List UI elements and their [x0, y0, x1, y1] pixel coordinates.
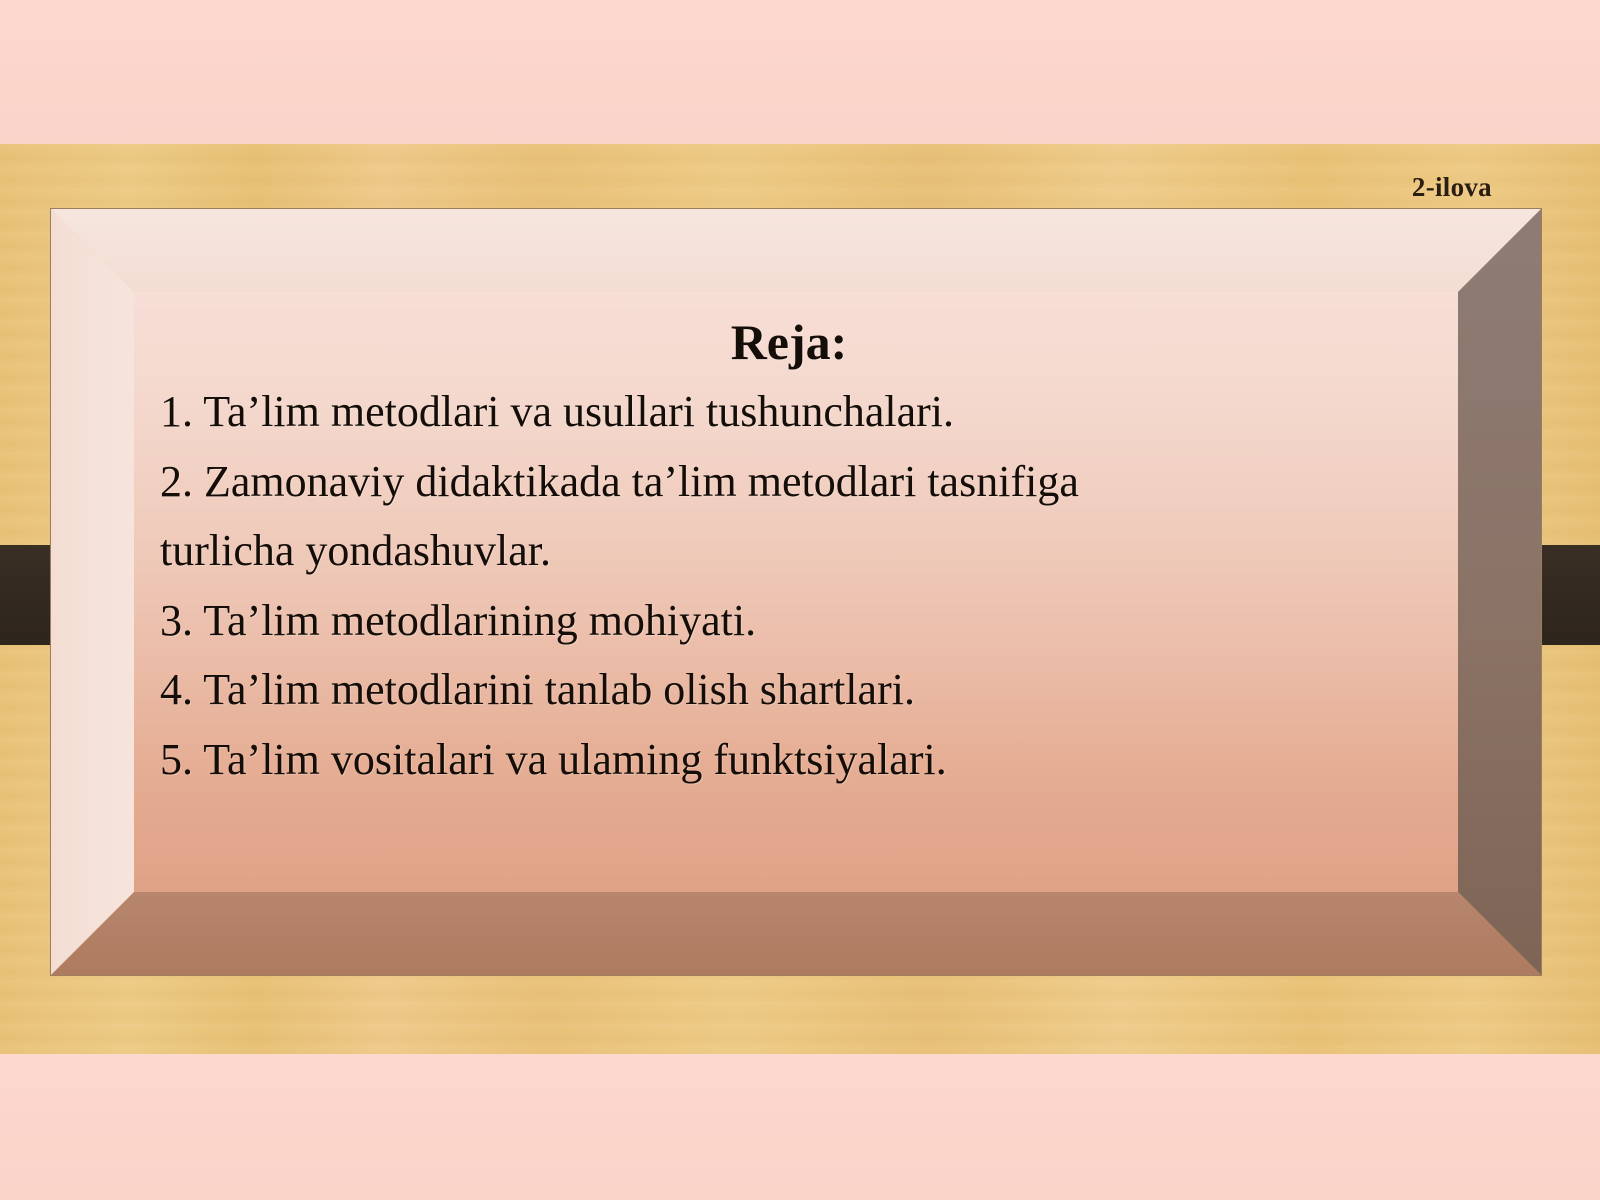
- dark-accent-bar-right: [1540, 545, 1600, 645]
- content-panel: Reja: 1. Ta’lim metodlari va usullari tu…: [134, 292, 1458, 892]
- page-title: Reja:: [154, 316, 1424, 369]
- list-item: 3. Ta’lim metodlarining mohiyati.: [160, 586, 1424, 656]
- slide-canvas: 2-ilova Reja: 1. Ta’lim metodlari va usu…: [0, 0, 1600, 1200]
- background-pink-top: [0, 0, 1600, 148]
- list-item-continuation: turlicha yondashuvlar.: [160, 516, 1424, 586]
- plan-list: 1. Ta’lim metodlari va usullari tushunch…: [154, 377, 1424, 794]
- picture-frame: Reja: 1. Ta’lim metodlari va usullari tu…: [50, 208, 1542, 976]
- list-item: 2. Zamonaviy didaktikada ta’lim metodlar…: [160, 447, 1424, 517]
- attachment-label: 2-ilova: [1412, 172, 1492, 203]
- dark-accent-bar-left: [0, 545, 52, 645]
- frame-bevel-top: [50, 208, 1542, 292]
- list-item: 5. Ta’lim vositalari va ulaming funktsiy…: [160, 725, 1424, 795]
- list-item: 4. Ta’lim metodlarini tanlab olish shart…: [160, 655, 1424, 725]
- frame-bevel-left: [50, 208, 134, 976]
- background-pink-bottom: [0, 1052, 1600, 1200]
- frame-bevel-bottom: [50, 892, 1542, 976]
- frame-bevel-right: [1458, 208, 1542, 976]
- list-item: 1. Ta’lim metodlari va usullari tushunch…: [160, 377, 1424, 447]
